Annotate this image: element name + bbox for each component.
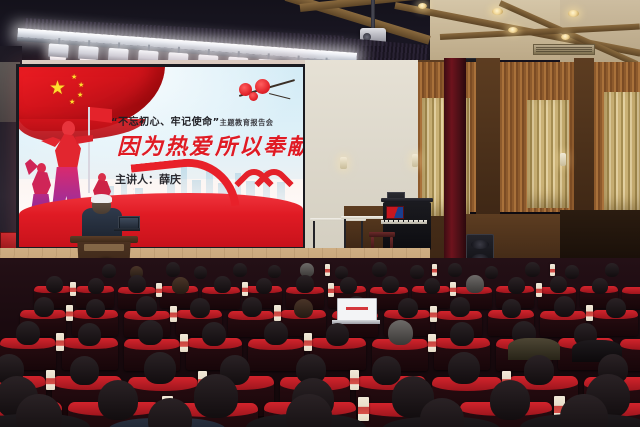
stage-light-2	[78, 46, 99, 61]
audience-head	[88, 278, 104, 294]
speaker-driver-top	[471, 240, 490, 249]
screen-subtitle-tail: 主题教育报告会	[220, 118, 274, 127]
ribbon-heart-graphic	[237, 163, 291, 211]
water-bottle	[56, 333, 64, 351]
water-bottle	[274, 305, 281, 321]
ceiling-air-vent	[533, 44, 595, 55]
water-bottle	[428, 334, 436, 352]
flag-star-3: ★	[77, 92, 83, 99]
gold-curtain-right	[604, 92, 640, 212]
audience-head	[502, 299, 521, 318]
audience-head	[16, 321, 40, 345]
audience-head	[398, 298, 418, 318]
audience-head	[144, 352, 176, 384]
presenter-hair	[91, 194, 112, 203]
audience-head	[592, 278, 608, 294]
audience-head	[340, 277, 357, 294]
plum-blossom-graphic	[233, 75, 299, 111]
audience-head	[256, 278, 272, 294]
upright-piano	[381, 198, 433, 252]
screen-headline-left: 因为热爱	[117, 129, 213, 161]
audience-head	[190, 298, 210, 318]
audience-head	[388, 320, 413, 345]
audience-head	[466, 275, 484, 293]
silhouette-figure-main-head	[62, 121, 75, 136]
audience-head	[86, 299, 105, 318]
downlight-1	[418, 3, 427, 9]
audience-laptop-screen	[337, 298, 377, 322]
led-display-screen: ★ ★ ★ ★ ★	[16, 64, 306, 250]
audience-head	[70, 356, 99, 385]
audience-head	[172, 277, 189, 294]
downlight-3	[568, 10, 579, 17]
water-bottle	[70, 282, 76, 296]
audience-head	[424, 278, 440, 294]
flag-star-large: ★	[49, 79, 66, 98]
audience-head	[128, 275, 146, 293]
audience-head	[294, 299, 313, 318]
silhouette-figure-left-arm	[25, 159, 38, 175]
silhouette-figure-main-arm2	[75, 135, 93, 144]
stage-light-1	[48, 43, 69, 58]
water-bottle	[180, 334, 188, 352]
led-screen-content: ★ ★ ★ ★ ★	[19, 67, 303, 247]
audience-head	[606, 298, 626, 318]
podium-top-surface	[70, 236, 138, 243]
wood-pillar-mid	[476, 58, 500, 218]
blossom-branch-twig	[269, 93, 291, 99]
audience-head	[214, 276, 231, 293]
silhouette-flagpole	[88, 107, 90, 193]
audience-head	[46, 276, 63, 293]
water-bottle	[586, 305, 593, 321]
projector-mount-pole	[371, 0, 375, 30]
blossom-flower-3	[249, 92, 258, 101]
audience-head	[136, 296, 157, 317]
maroon-stage-curtain	[444, 58, 466, 288]
wall-sconce-right	[560, 153, 566, 166]
audience-head	[34, 297, 54, 317]
presenter-laptop[interactable]	[114, 216, 140, 232]
podium-nameplate	[84, 244, 124, 251]
downlight-5	[561, 34, 570, 40]
audience-head	[138, 320, 163, 345]
water-bottle	[156, 283, 162, 297]
audience-head	[450, 322, 474, 346]
flag-star-1: ★	[71, 74, 77, 81]
audience-head	[242, 297, 262, 317]
audience-head	[448, 352, 480, 384]
audience-head	[296, 275, 314, 293]
audience-head	[326, 323, 349, 346]
screen-headline-right: 所以奉献	[215, 129, 303, 161]
desk-flag	[386, 206, 404, 219]
downlight-4	[508, 27, 518, 33]
screen-subtitle-quote: “不忘初心、牢记使命”	[111, 117, 220, 128]
audience-head	[508, 277, 525, 294]
downlight-2	[492, 8, 503, 15]
audience-head	[372, 356, 401, 385]
table-leg	[313, 221, 315, 251]
audience-head	[202, 322, 226, 346]
audience-head	[554, 296, 575, 317]
wall-sconce-left	[412, 154, 418, 167]
water-bottle	[242, 282, 248, 296]
silhouette-figure-left-body	[32, 171, 51, 197]
audience-head	[264, 321, 288, 345]
water-bottle	[536, 283, 542, 297]
piano-keyboard	[381, 220, 427, 224]
auditorium-photo: ★ ★ ★ ★ ★	[0, 0, 640, 427]
audience-head	[450, 297, 470, 317]
screen-subtitle: “不忘初心、牢记使命”主题教育报告会	[111, 113, 273, 128]
blossom-flower-2	[255, 79, 270, 94]
audience-head	[550, 276, 567, 293]
water-bottle	[304, 333, 312, 351]
water-bottle	[450, 282, 456, 296]
audience-seating-area	[0, 258, 640, 427]
screen-speaker-line: 主讲人：薛庆	[115, 171, 181, 187]
audience-head	[382, 276, 399, 293]
water-bottle	[328, 283, 334, 297]
audience-row-7	[0, 408, 640, 427]
wall-sconce-center	[340, 157, 347, 169]
wood-pillar-right	[574, 58, 594, 218]
audience-head	[78, 323, 101, 346]
laptop-keyboard-base	[114, 228, 140, 231]
table-leg	[344, 219, 346, 251]
audience-head	[524, 355, 554, 385]
silhouette-flag	[90, 107, 112, 123]
flag-star-2: ★	[78, 82, 84, 89]
water-bottle	[66, 305, 73, 321]
